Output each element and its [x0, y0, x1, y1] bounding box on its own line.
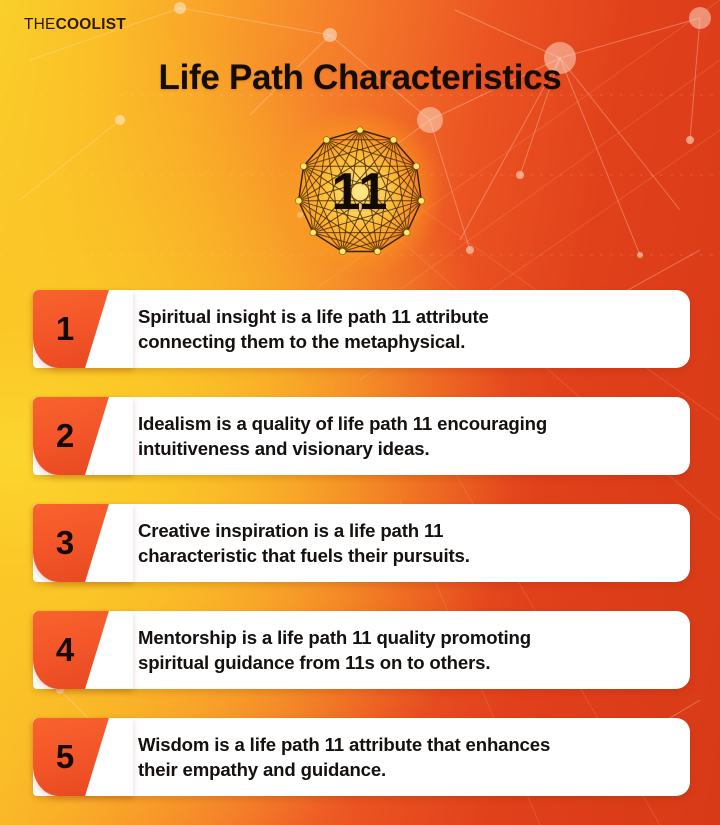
- text-segment: Creative inspiration is a life path: [138, 520, 424, 541]
- list-item-text: Mentorship is a life path 11 quality pro…: [138, 625, 680, 675]
- list-item-badge: 1: [33, 290, 133, 368]
- text-highlight: 11: [413, 413, 432, 434]
- list-item-badge: 2: [33, 397, 133, 475]
- text-segment: connecting them to the metaphysical.: [138, 331, 465, 352]
- list-item-text: Wisdom is a life path 11 attribute that …: [138, 732, 680, 782]
- list-item: 2 Idealism is a quality of life path 11 …: [0, 397, 720, 475]
- infographic-poster: THECOOLIST Life Path Characteristics 11 …: [0, 0, 720, 825]
- list-item: 5 Wisdom is a life path 11 attribute tha…: [0, 718, 720, 796]
- list-item: 3 Creative inspiration is a life path 11…: [0, 504, 720, 582]
- list-item-number: 2: [33, 397, 97, 475]
- page-title: Life Path Characteristics: [0, 58, 720, 98]
- list-item-badge: 3: [33, 504, 133, 582]
- text-segment: Idealism is a quality of life path: [138, 413, 413, 434]
- text-segment: attribute that enhances: [344, 734, 550, 755]
- list-item-number: 1: [33, 290, 97, 368]
- list-item-number: 3: [33, 504, 97, 582]
- text-highlight: 11: [325, 734, 344, 755]
- list-item-number: 4: [33, 611, 97, 689]
- text-highlight: 11: [345, 652, 364, 673]
- text-segment: quality promoting: [371, 627, 530, 648]
- text-segment: their empathy and guidance.: [138, 759, 386, 780]
- text-segment: encouraging: [432, 413, 547, 434]
- text-segment: intuitiveness and visionary ideas.: [138, 438, 429, 459]
- list-item-number: 5: [33, 718, 97, 796]
- text-segment: spiritual guidance from: [138, 652, 345, 673]
- brand-logo: THECOOLIST: [24, 16, 126, 34]
- list-item-text: Creative inspiration is a life path 11 c…: [138, 518, 680, 568]
- characteristics-list: 1 Spiritual insight is a life path 11 at…: [0, 290, 720, 825]
- text-segment: characteristic that fuels their pursuits…: [138, 545, 470, 566]
- text-highlight: 11: [424, 520, 443, 541]
- life-path-number-emblem: 11: [280, 112, 440, 272]
- list-item: 1 Spiritual insight is a life path 11 at…: [0, 290, 720, 368]
- list-item-text: Idealism is a quality of life path 11 en…: [138, 411, 680, 461]
- list-item-badge: 4: [33, 611, 133, 689]
- text-segment: Mentorship is a life path: [138, 627, 352, 648]
- brand-logo-prefix: THE: [24, 16, 56, 33]
- list-item: 4 Mentorship is a life path 11 quality p…: [0, 611, 720, 689]
- text-segment: s on to others.: [365, 652, 491, 673]
- text-segment: Wisdom is a life path: [138, 734, 325, 755]
- text-segment: attribute: [411, 306, 489, 327]
- text-highlight: 11: [391, 306, 410, 327]
- text-highlight: 11: [352, 627, 371, 648]
- list-item-text: Spiritual insight is a life path 11 attr…: [138, 304, 680, 354]
- text-segment: Spiritual insight is a life path: [138, 306, 391, 327]
- brand-logo-suffix: COOLIST: [56, 16, 126, 33]
- list-item-badge: 5: [33, 718, 133, 796]
- emblem-number: 11: [280, 112, 440, 272]
